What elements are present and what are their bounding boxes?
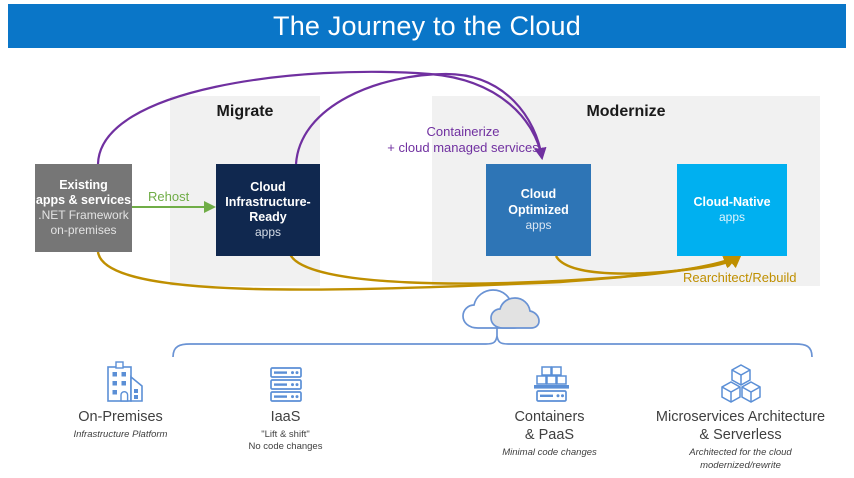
legend-title-containers-line1: Containers: [462, 408, 637, 426]
legend-title-containers-line2: & PaaS: [462, 426, 637, 444]
arrow-label-containerize-line2: + cloud managed services: [378, 140, 548, 156]
legend-title-iaas: IaaS: [203, 408, 368, 426]
stage-box-cloud-optimized[interactable]: Cloud Optimized apps: [486, 164, 591, 256]
slide-canvas: The Journey to the Cloud Migrate Moderni…: [0, 0, 854, 478]
legend-item-iaas[interactable]: IaaS "Lift & shift" No code changes: [203, 358, 368, 454]
legend-item-microservices-serverless[interactable]: Microservices Architecture & Serverless …: [638, 358, 843, 472]
stage-infra-line4: apps: [255, 225, 281, 240]
stage-infra-line1: Cloud: [250, 180, 285, 195]
stage-existing-line4: on-premises: [50, 223, 116, 238]
legend-title-on-premises: On-Premises: [28, 408, 213, 426]
legend-item-containers-paas[interactable]: Containers & PaaS Minimal code changes: [462, 358, 637, 460]
stage-existing-line1: Existing: [59, 178, 108, 193]
legend-title-microservices-line1: Microservices Architecture: [638, 408, 843, 426]
stage-optimized-line2: Optimized: [508, 203, 568, 218]
stage-existing-line3: .NET Framework: [38, 208, 128, 223]
legend-sub-iaas-2: No code changes: [203, 441, 368, 453]
page-title: The Journey to the Cloud: [273, 11, 581, 42]
arrow-label-rehost: Rehost: [148, 189, 189, 204]
stage-optimized-line1: Cloud: [521, 187, 556, 202]
stage-box-cloud-native[interactable]: Cloud-Native apps: [677, 164, 787, 256]
cubes-icon: [638, 358, 843, 408]
legend-sub-on-premises: Infrastructure Platform: [28, 429, 213, 441]
stage-box-cloud-infrastructure-ready[interactable]: Cloud Infrastructure- Ready apps: [216, 164, 320, 256]
stage-infra-line3: Ready: [249, 210, 287, 225]
cloud-icon: [463, 290, 539, 328]
stage-optimized-line3: apps: [525, 218, 551, 233]
legend-sub-microservices-1: Architected for the cloud: [638, 447, 843, 459]
arrow-label-rearchitect: Rearchitect/Rebuild: [683, 270, 796, 285]
phase-label-migrate: Migrate: [170, 103, 320, 121]
phase-label-modernize: Modernize: [432, 103, 820, 121]
bottom-bracket: [173, 336, 812, 357]
server-rack-icon: [203, 358, 368, 408]
legend-title-microservices-line2: & Serverless: [638, 426, 843, 444]
legend-item-on-premises[interactable]: On-Premises Infrastructure Platform: [28, 358, 213, 441]
containers-icon: [462, 358, 637, 408]
stage-box-existing-apps[interactable]: Existing apps & services .NET Framework …: [35, 164, 132, 252]
arrow-label-containerize: Containerize + cloud managed services: [378, 124, 548, 155]
legend-sub-iaas-1: "Lift & shift": [203, 429, 368, 441]
arrow-label-containerize-line1: Containerize: [378, 124, 548, 140]
legend-sub-containers: Minimal code changes: [462, 447, 637, 459]
stage-native-line2: apps: [719, 210, 745, 225]
building-icon: [28, 358, 213, 408]
stage-existing-line2: apps & services: [36, 193, 131, 208]
slide-title-bar: The Journey to the Cloud: [8, 4, 846, 48]
stage-native-line1: Cloud-Native: [693, 195, 770, 210]
legend-sub-microservices-2: modernized/rewrite: [638, 460, 843, 472]
stage-infra-line2: Infrastructure-: [225, 195, 310, 210]
